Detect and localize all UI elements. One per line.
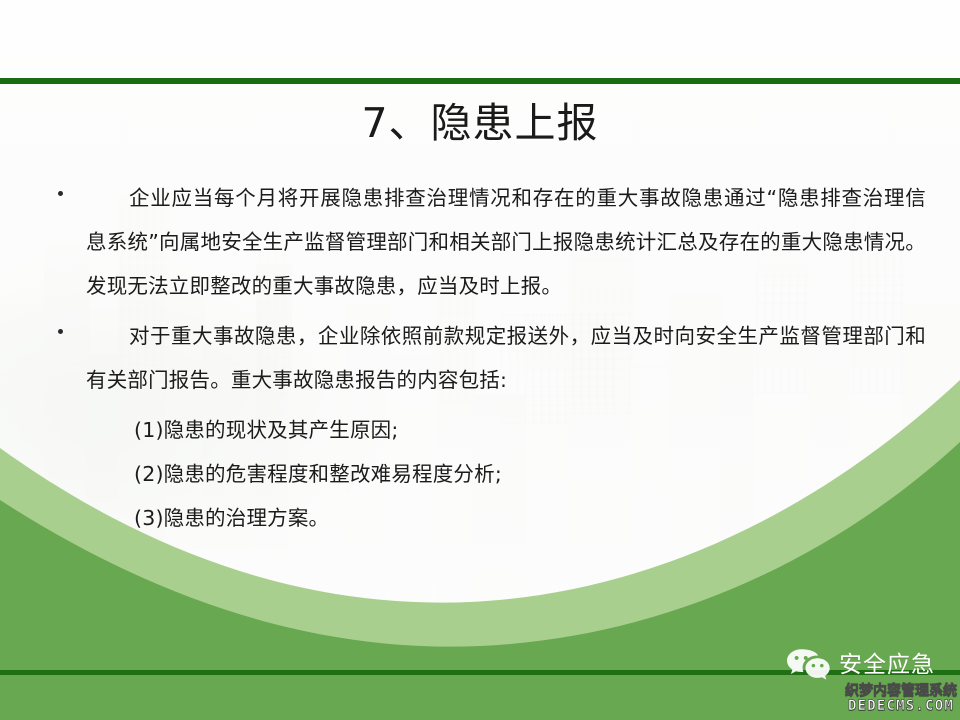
slide-body: 企业应当每个月将开展隐患排查治理情况和存在的重大事故隐患通过“隐患排查治理信息系… <box>46 176 926 540</box>
list-item: (3)隐患的治理方案。 <box>134 496 926 540</box>
slide-title: 7、隐患上报 <box>0 101 960 147</box>
top-accent-rule <box>0 78 960 84</box>
bullet-paragraph-1: 企业应当每个月将开展隐患排查治理情况和存在的重大事故隐患通过“隐患排查治理信息系… <box>86 176 926 308</box>
numbered-list: (1)隐患的现状及其产生原因; (2)隐患的危害程度和整改难易程度分析; (3)… <box>46 408 926 540</box>
wechat-icon <box>786 648 832 682</box>
list-item: (1)隐患的现状及其产生原因; <box>134 408 926 452</box>
list-item: (2)隐患的危害程度和整改难易程度分析; <box>134 452 926 496</box>
site-watermark: 织梦内容管理系统 DEDECMS.COM <box>845 684 957 713</box>
bullet-dot-icon <box>58 329 63 334</box>
watermark-chinese: 织梦内容管理系统 <box>845 684 957 699</box>
watermark-domain: DEDECMS.COM <box>845 699 957 714</box>
bullet-dot-icon <box>58 191 63 196</box>
bullet-item: 对于重大事故隐患，企业除依照前款规定报送外，应当及时向安全生产监督管理部门和有关… <box>46 314 926 402</box>
presentation-slide: 7、隐患上报 企业应当每个月将开展隐患排查治理情况和存在的重大事故隐患通过“隐患… <box>0 0 960 720</box>
footer-brand: 安全应急 <box>786 648 935 682</box>
bullet-item: 企业应当每个月将开展隐患排查治理情况和存在的重大事故隐患通过“隐患排查治理信息系… <box>46 176 926 308</box>
bullet-paragraph-2: 对于重大事故隐患，企业除依照前款规定报送外，应当及时向安全生产监督管理部门和有关… <box>86 314 926 402</box>
brand-label: 安全应急 <box>839 654 935 677</box>
